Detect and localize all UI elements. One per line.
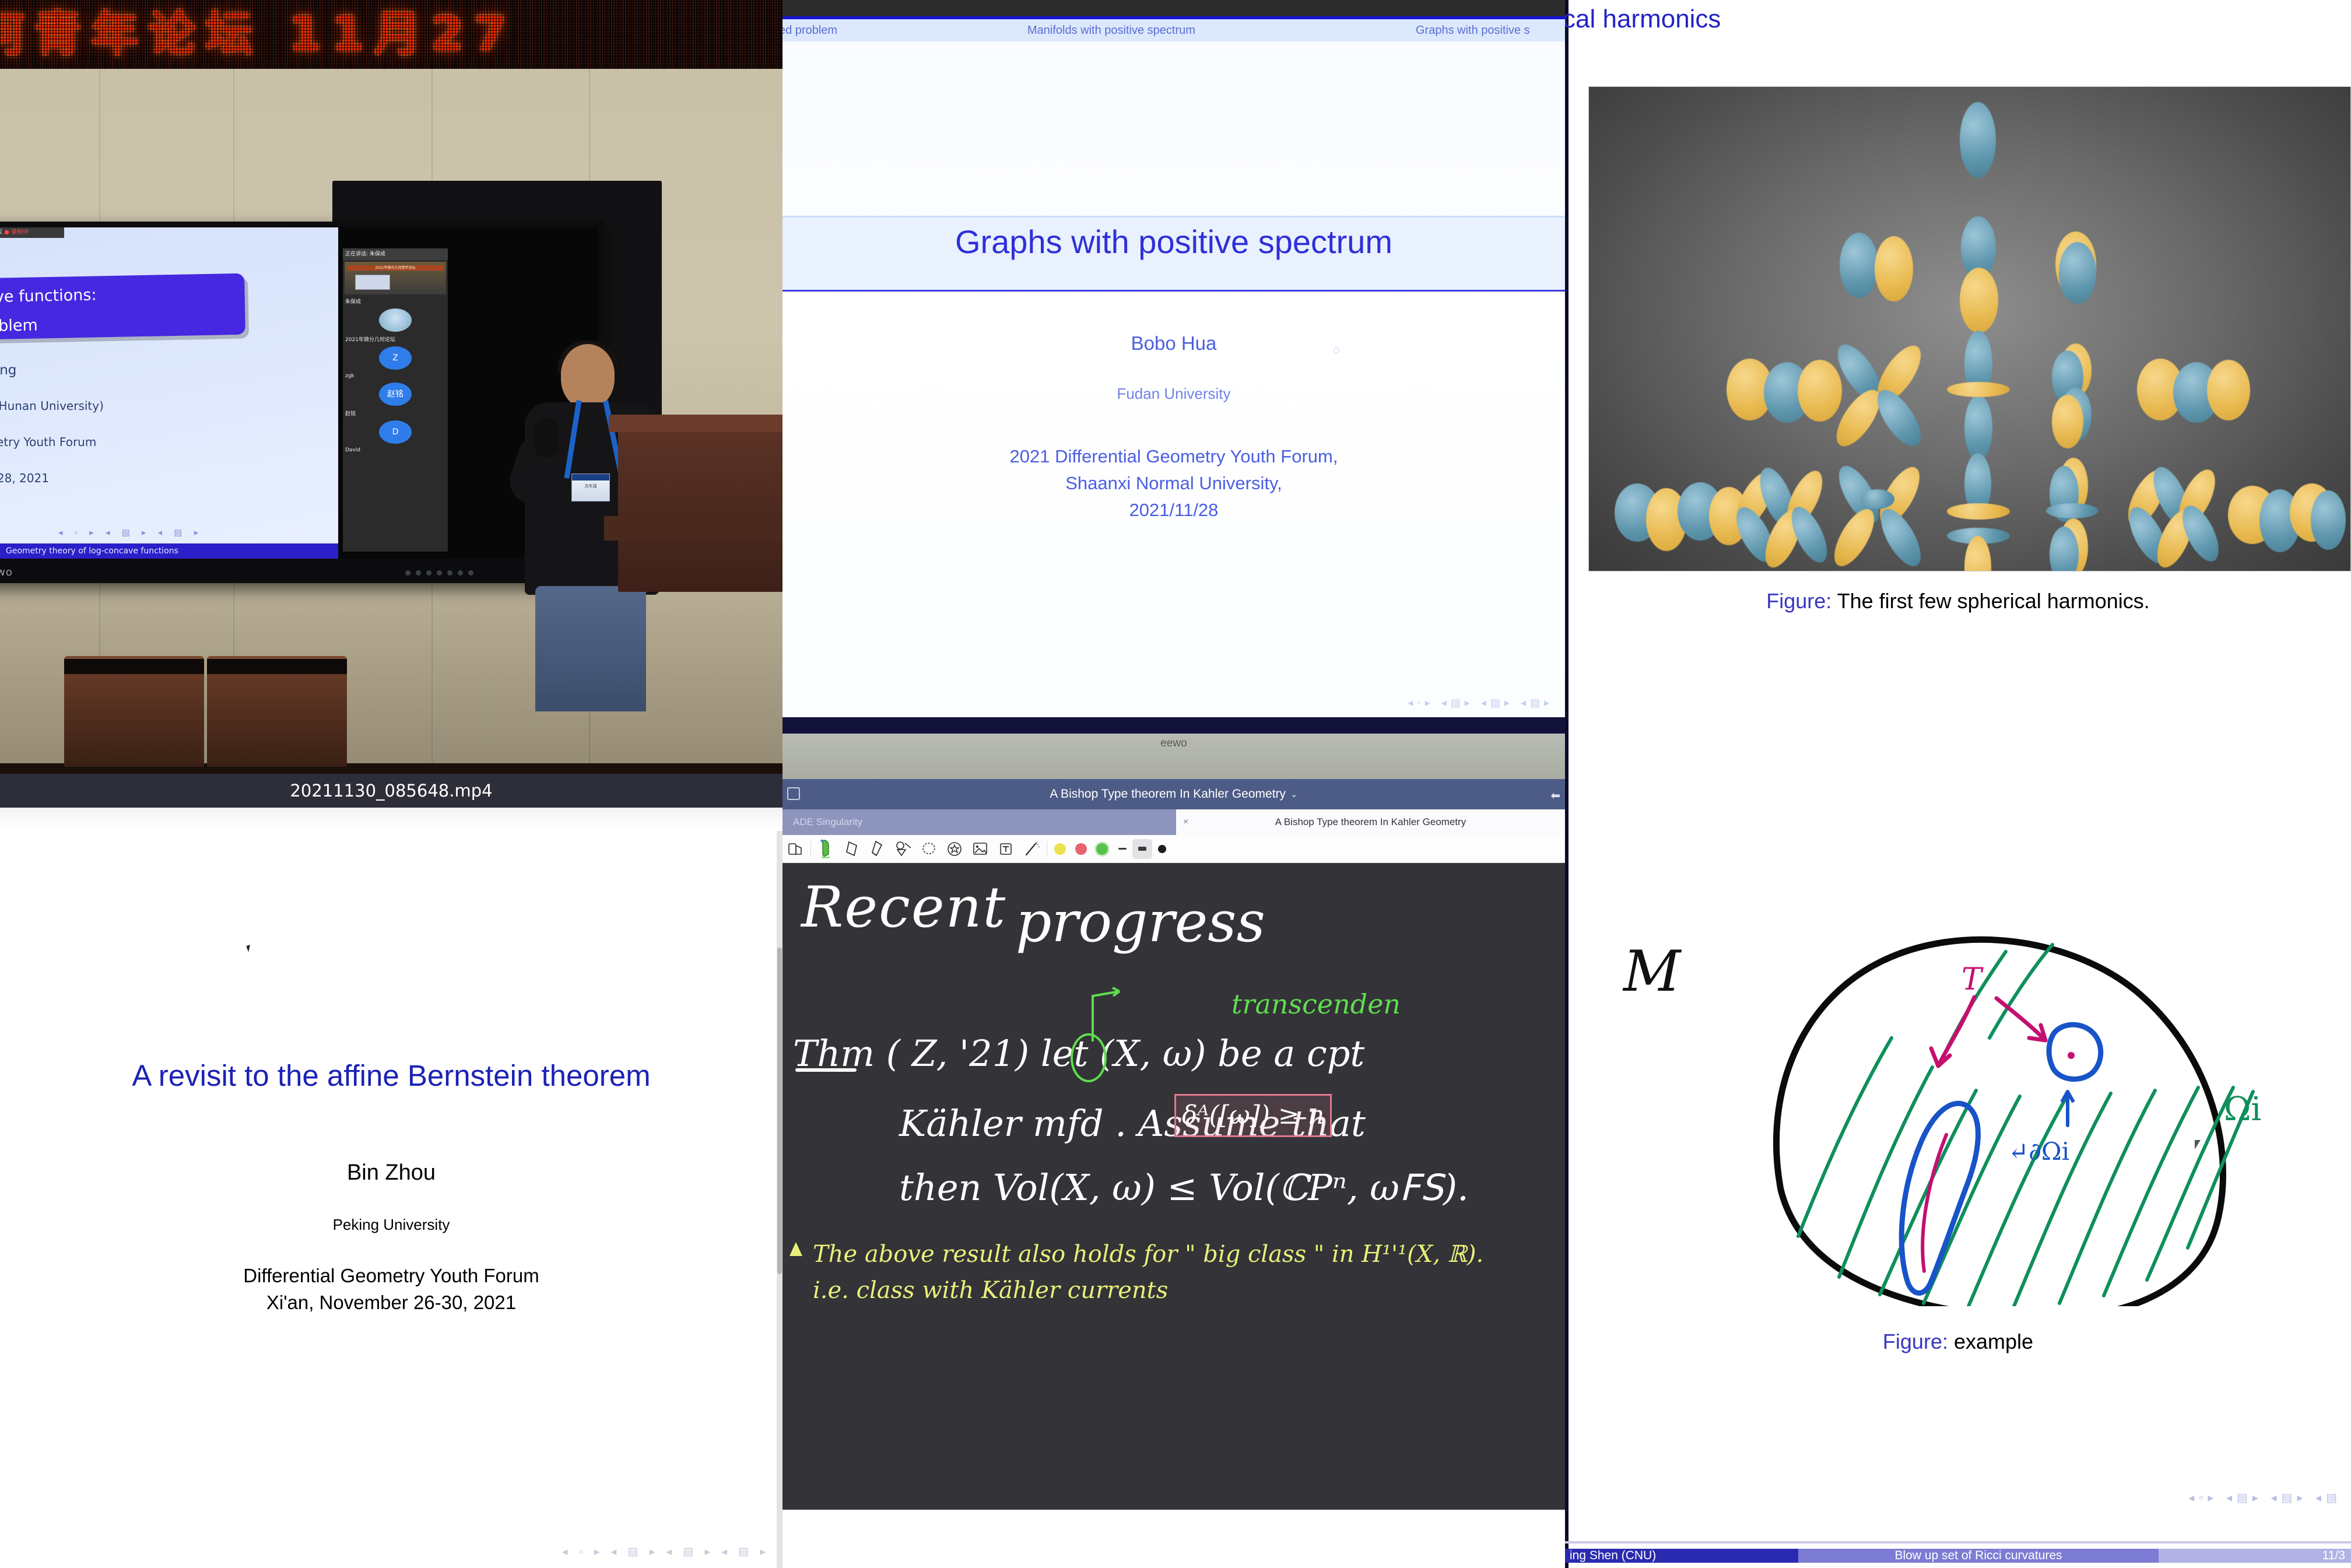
figure-caption-2: Figure: example [1565, 1330, 2351, 1354]
lectern [618, 423, 783, 592]
figure-caption-2-prefix: Figure: [1883, 1330, 1948, 1353]
presenter-legs [535, 586, 646, 711]
chair-top-rail [207, 659, 347, 674]
right-panel: cal harmonics [1565, 0, 2351, 1568]
color-swatch-red[interactable] [1075, 843, 1087, 855]
board-green-circle [1071, 1033, 1107, 1082]
spherical-harmonics-figure [1588, 86, 2351, 571]
led-banner: 何青年论坛 11月27 [0, 0, 783, 69]
manifold-drawing [1588, 863, 2351, 1306]
manifold-label-M: M [1623, 939, 1680, 1004]
video-filename-caption: 20211130_085648.mp4 [0, 774, 783, 808]
zoom-participant-name: David [343, 446, 448, 454]
sticker-icon[interactable] [942, 837, 967, 861]
magic-wand-icon[interactable] [1019, 837, 1044, 861]
beamer-nav-icons[interactable]: ◂▫▸ ◂▤▸ ◂▤▸ ◂▤▸ [1408, 697, 1553, 709]
zoom-avatar-initial[interactable]: D [379, 420, 412, 444]
mouse-cursor [2195, 1140, 2201, 1149]
audience-chair [207, 656, 347, 767]
beamer-event-line3: 2021/11/28 [783, 497, 1565, 524]
board-boxed-formula-text: δᴬ([ω]) ≥ n [1176, 1096, 1330, 1130]
board-note-line2: i.e. class with Kähler currents [813, 1277, 1168, 1304]
image-icon[interactable] [967, 837, 993, 861]
audience-chair [64, 656, 204, 767]
zoom-participant-name: 2021年微分几何论坛 [343, 334, 448, 344]
page-title: cal harmonics [1565, 5, 1721, 34]
board-heading-word2: progress [1016, 889, 1265, 955]
projector-top-edge [783, 0, 1565, 16]
slide-title-line2: owski problem [0, 303, 245, 338]
spherical-harmonics-slide: cal harmonics [1565, 0, 2351, 1568]
status-bar-title: Blow up set of Ricci curvatures [1798, 1549, 2159, 1563]
tab-label: A Bishop Type theorem In Kahler Geometry [1275, 816, 1466, 827]
manifold-label-T: T [1961, 962, 1982, 997]
figure-caption-1-prefix: Figure: [1766, 589, 1831, 613]
screen-status-bar: 会议 ● 录制中 [0, 227, 64, 238]
board-thm-underline [795, 1068, 857, 1072]
highlighter-icon[interactable] [865, 837, 890, 861]
conference-video-frame[interactable]: 何青年论坛 11月27 会议 ● 录制中 og-concav [0, 0, 783, 808]
smartboard-screen: 会议 ● 录制中 og-concave functions: owski pro… [0, 227, 338, 559]
color-swatch-green-selected[interactable] [1096, 843, 1108, 855]
slide-author: Fang [0, 363, 16, 378]
close-icon[interactable]: × [1183, 809, 1188, 835]
app-title-bar: A Bishop Type theorem In Kahler Geometry… [783, 779, 1565, 809]
beamer-affiliation: Fudan University [783, 385, 1565, 403]
pen-icon[interactable]: ✦ [813, 837, 839, 861]
slide-event: eometry Youth Forum [0, 435, 96, 449]
beamer-header-item-1[interactable]: ed problem [783, 19, 837, 41]
board-bullet-triangle [789, 1242, 802, 1256]
chair-top-rail [64, 659, 204, 674]
board-heading-word1: Recent [801, 875, 1006, 940]
zoom-thumb-screen [355, 275, 390, 290]
lasso-icon[interactable] [916, 837, 942, 861]
zoom-avatar-photo[interactable] [379, 308, 412, 332]
beamer-nav-icons[interactable]: ◂▫▸ ◂▤▸ ◂▤▸ ◂▤ [2188, 1490, 2342, 1505]
tab-bishop-theorem[interactable]: × A Bishop Type theorem In Kahler Geomet… [1176, 809, 1565, 835]
board-green-annotation: transcenden [1231, 988, 1401, 1020]
back-arrow-icon[interactable]: ⬅ [1550, 788, 1560, 803]
bernstein-slide: A revisit to the affine Bernstein theore… [0, 808, 783, 1568]
figure-caption-2-text: example [1954, 1330, 2033, 1353]
projector-brand-label: eewo [1160, 737, 1187, 750]
zoom-participant-name: 赵铭 [343, 408, 448, 418]
slide-footer-bar: Geometry theory of log-concave functions [0, 543, 338, 559]
projector-frame-bottom: eewo [783, 734, 1565, 779]
vertical-scrollbar[interactable] [777, 831, 783, 1568]
toolbar-separator [1047, 841, 1047, 857]
figure-caption-1: Figure: The first few spherical harmonic… [1565, 589, 2351, 613]
bluetooth-icon: ✦ [819, 837, 824, 845]
left-panel: 何青年论坛 11月27 会议 ● 录制中 og-concav [0, 0, 783, 1568]
badge-header [572, 474, 609, 480]
figure-caption-1-text: The first few spherical harmonics. [1837, 589, 2150, 613]
page-title: A revisit to the affine Bernstein theore… [0, 1058, 783, 1093]
zoom-participant-strip[interactable]: 正在讲话: 朱保成 2021年微分几何青年论坛 朱保成 2021年微分几何论坛 … [343, 248, 448, 552]
led-banner-text: 何青年论坛 11月27 [0, 2, 783, 66]
toolbar-separator [810, 841, 811, 857]
zoom-avatar-initial[interactable]: 赵铭 [379, 383, 412, 406]
screen-status-label: 会议 [0, 229, 2, 236]
beamer-event-line1: 2021 Differential Geometry Youth Forum, [783, 443, 1565, 470]
board-boxed-formula: δᴬ([ω]) ≥ n [1174, 1094, 1332, 1137]
board-theorem-line3: then Vol(X, ω) ≤ Vol(ℂPⁿ, ω𝖥𝖲). [899, 1166, 1469, 1209]
app-window-title: A Bishop Type theorem In Kahler Geometry [1050, 787, 1286, 801]
app-tab-bar: ADE Singularity × A Bishop Type theorem … [783, 809, 1565, 835]
handwriting-canvas[interactable]: Recent progress transcenden Thm ( Z, '21… [783, 863, 1565, 1510]
zoom-speaking-label: 正在讲话: 朱保成 [343, 248, 448, 260]
board-note-line1: The above result also holds for " big cl… [813, 1241, 1483, 1268]
beamer-event-line2: Shaanxi Normal University, [783, 470, 1565, 497]
projector-bottom-edge [783, 717, 1565, 734]
pointer-dot-icon: ◌ [1333, 344, 1340, 357]
beamer-title: Graphs with positive spectrum [783, 223, 1565, 261]
text-icon[interactable] [993, 837, 1019, 861]
middle-panel: ed problem Manifolds with positive spect… [783, 0, 1565, 1568]
name-badge: 方牛茂 [571, 473, 610, 501]
lectern-top [609, 415, 783, 432]
slide-event-line1: Differential Geometry Youth Forum [0, 1262, 783, 1289]
microphone [534, 419, 559, 457]
app-toolbar: ✦ [783, 835, 1565, 863]
beamer-event: 2021 Differential Geometry Youth Forum, … [783, 443, 1565, 524]
beamer-author: Bobo Hua [783, 332, 1565, 355]
page-icon[interactable] [783, 837, 808, 861]
slide-date: er 28, 2021 [0, 471, 49, 485]
slide-affiliation: tics, Hunan University) [0, 399, 104, 413]
mouse-cursor [246, 945, 252, 952]
slide-nav-icons[interactable]: ◂ ▫ ▸ ◂ ▤ ▸ ◂ ▤ ▸ ◂ ▤ ▸ [562, 1545, 770, 1559]
tab-ade-singularity[interactable]: ADE Singularity [783, 809, 1176, 835]
slide-affiliation: Peking University [0, 1216, 783, 1234]
slide-author: Bin Zhou [0, 1160, 783, 1185]
manifold-label-omega: Ωi [2224, 1090, 2261, 1128]
zoom-thumbnail[interactable]: 2021年微分几何青年论坛 [345, 262, 446, 294]
presenter-head [561, 344, 615, 409]
manifold-label-boundary: ↵∂Ωi [2008, 1137, 2069, 1166]
slide-event-line2: Xi'an, November 26-30, 2021 [0, 1289, 783, 1316]
slide-title-box: og-concave functions: owski problem [0, 273, 245, 341]
slide-nav-icons[interactable]: ◂ ▫ ▸ ◂ ▤ ▸ ◂ ▤ ▸ [58, 527, 303, 540]
stroke-width-medium-selected[interactable] [1132, 839, 1152, 859]
color-swatch-yellow[interactable] [1054, 843, 1066, 855]
status-bar-author: ing Shen (CNU) [1565, 1549, 1798, 1563]
chevron-down-icon[interactable]: ⌄ [1290, 789, 1298, 799]
zoom-participant-name: 朱保成 [343, 296, 448, 306]
zoom-participant-name: zgk [343, 372, 448, 380]
slide-event: Differential Geometry Youth Forum Xi'an,… [0, 1262, 783, 1316]
stroke-width-dot[interactable] [1158, 845, 1166, 853]
beamer-title-slide: ed problem Manifolds with positive spect… [783, 0, 1565, 779]
lectern-base [604, 516, 783, 541]
status-bar-pagenum: 11/3 [2159, 1549, 2351, 1563]
slide-top-strip [0, 808, 783, 829]
screenshot-collage: 何青年论坛 11月27 会议 ● 录制中 og-concav [0, 0, 2351, 1568]
stroke-width-thin[interactable] [1113, 839, 1132, 859]
recording-indicator: ● 录制中 [4, 229, 29, 236]
zoom-thumb-banner: 2021年微分几何青年论坛 [347, 265, 444, 271]
eraser-icon[interactable] [839, 837, 865, 861]
zoom-avatar-initial[interactable]: Z [379, 346, 412, 370]
badge-name: 方牛茂 [572, 483, 609, 489]
sidebar-toggle-icon[interactable] [787, 787, 800, 800]
manifold-diagram: M Ωi ↵∂Ωi T [1588, 863, 2351, 1306]
beamer-header-item-3[interactable]: Graphs with positive s [1416, 19, 1530, 41]
shape-icon[interactable] [890, 837, 916, 861]
beamer-status-bar: ing Shen (CNU) Blow up set of Ricci curv… [1565, 1544, 2351, 1568]
smartboard-brand: eewo [0, 566, 13, 578]
beamer-header-item-2[interactable]: Manifolds with positive spectrum [1027, 19, 1195, 41]
